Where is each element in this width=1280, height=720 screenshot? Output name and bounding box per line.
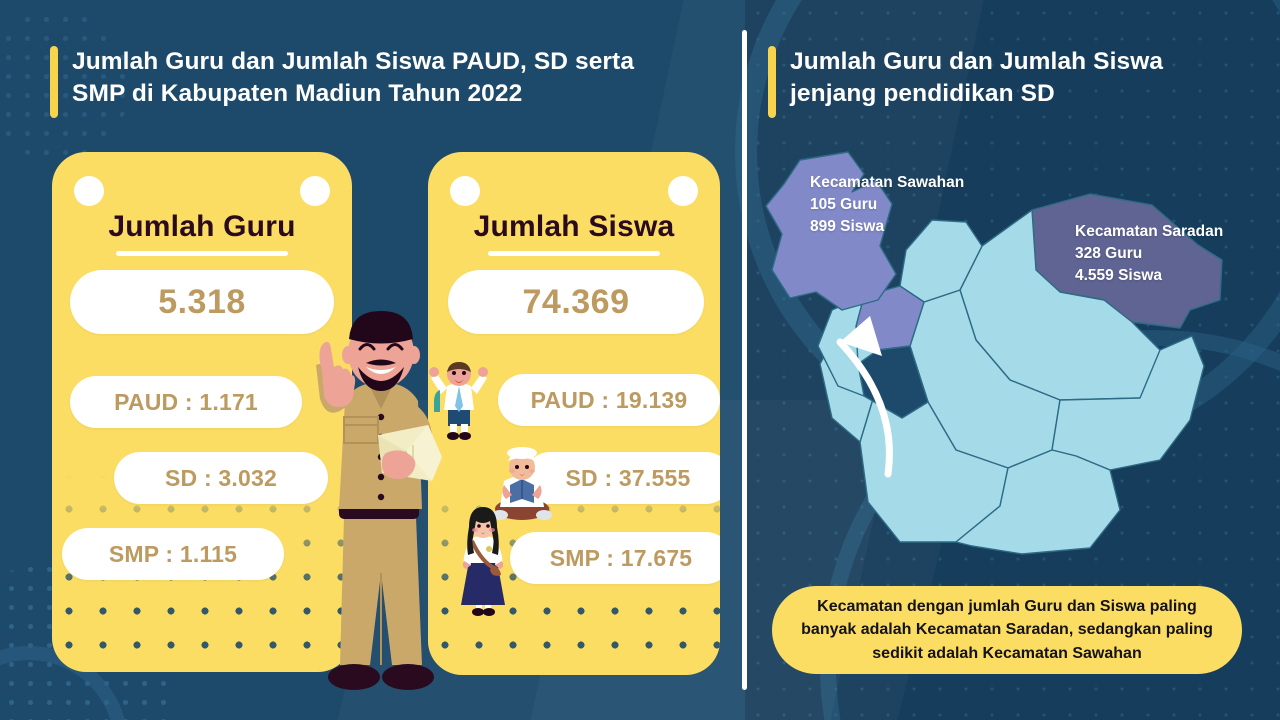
map-caption-box: Kecamatan dengan jumlah Guru dan Siswa p…	[772, 586, 1242, 674]
map-label-sawahan: Kecamatan Sawahan 105 Guru 899 Siswa	[810, 172, 964, 238]
card-siswa-row-paud: PAUD : 19.139	[498, 374, 720, 426]
map-label-saradan: Kecamatan Saradan 328 Guru 4.559 Siswa	[1075, 221, 1223, 287]
right-title-text: Jumlah Guru dan Jumlah Siswa jenjang pen…	[790, 46, 1163, 111]
student-smp-illustration	[452, 505, 514, 617]
map-caption-text: Kecamatan dengan jumlah Guru dan Siswa p…	[788, 595, 1226, 665]
punch-hole-icon	[668, 176, 698, 206]
card-siswa-underline	[488, 251, 660, 256]
infographic-canvas: Jumlah Guru dan Jumlah Siswa PAUD, SD se…	[0, 0, 1280, 720]
punch-hole-icon	[300, 176, 330, 206]
card-guru-row-smp: SMP : 1.115	[62, 528, 284, 580]
card-siswa-row-smp: SMP : 17.675	[510, 532, 720, 584]
card-guru-underline	[116, 251, 288, 256]
left-title-block: Jumlah Guru dan Jumlah Siswa PAUD, SD se…	[50, 46, 634, 118]
vertical-divider	[742, 30, 747, 690]
left-title-text: Jumlah Guru dan Jumlah Siswa PAUD, SD se…	[72, 46, 634, 111]
punch-hole-icon	[450, 176, 480, 206]
card-guru-row-paud: PAUD : 1.171	[70, 376, 302, 428]
card-siswa-total: 74.369	[448, 270, 704, 334]
student-paud-illustration	[428, 360, 490, 442]
card-guru-heading: Jumlah Guru	[52, 210, 352, 244]
card-siswa-heading: Jumlah Siswa	[428, 210, 720, 244]
title-accent-bar	[768, 46, 776, 118]
title-accent-bar	[50, 46, 58, 118]
right-title-block: Jumlah Guru dan Jumlah Siswa jenjang pen…	[768, 46, 1163, 118]
punch-hole-icon	[74, 176, 104, 206]
